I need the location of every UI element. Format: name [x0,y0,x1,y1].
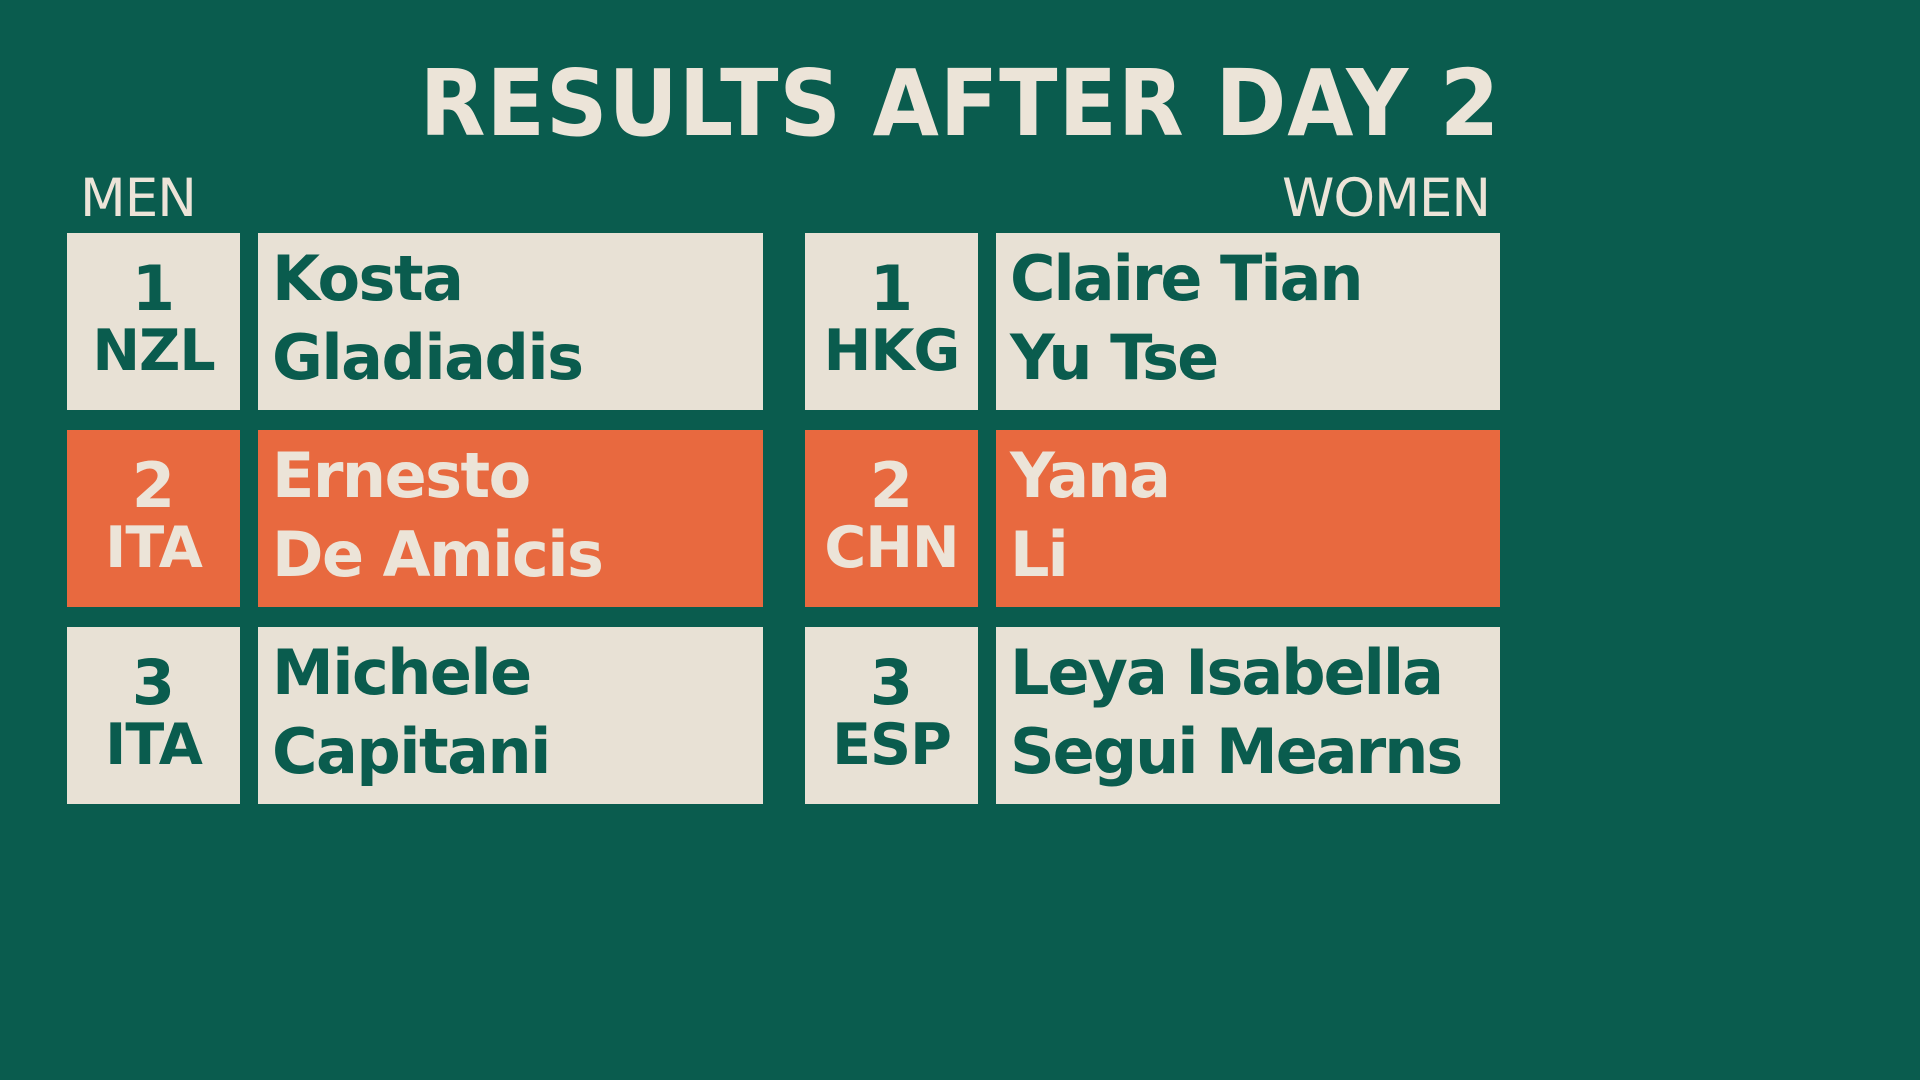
athlete-name-line-2: Yu Tse [1010,319,1500,397]
result-row[interactable]: 1 HKG Claire Tian Yu Tse [805,233,1500,410]
athlete-name-line-2: Li [1010,516,1500,594]
athlete-name-line-1: Leya Isabella [1010,634,1500,712]
athlete-name-line-1: Yana [1010,437,1500,515]
results-column-women: 1 HKG Claire Tian Yu Tse 2 CHN Yana Li 3… [805,233,1500,804]
rank-country-box: 3 ESP [805,627,978,804]
athlete-name-box: Kosta Gladiadis [258,233,763,410]
rank-number: 3 [132,651,175,714]
country-code: CHN [824,519,958,579]
results-graphic: RESULTS AFTER DAY 2 MEN WOMEN 1 NZL Kost… [0,0,1920,1080]
rank-country-box: 3 ITA [67,627,240,804]
rank-country-box: 2 CHN [805,430,978,607]
country-code: HKG [824,322,960,382]
result-row[interactable]: 3 ITA Michele Capitani [67,627,763,804]
athlete-name-line-1: Michele [272,634,763,712]
result-row[interactable]: 2 CHN Yana Li [805,430,1500,607]
athlete-name-box: Yana Li [996,430,1500,607]
country-code: ITA [105,716,202,776]
athlete-name-line-1: Claire Tian [1010,240,1500,318]
country-code: ESP [832,716,951,776]
athlete-name-box: Claire Tian Yu Tse [996,233,1500,410]
athlete-name-box: Michele Capitani [258,627,763,804]
column-heading-men: MEN [80,152,196,228]
athlete-name-box: Leya Isabella Segui Mearns [996,627,1500,804]
page-title: RESULTS AFTER DAY 2 [67,58,1853,150]
results-column-men: 1 NZL Kosta Gladiadis 2 ITA Ernesto De A… [67,233,763,804]
athlete-name-line-2: Capitani [272,713,763,791]
rank-country-box: 1 HKG [805,233,978,410]
rank-number: 1 [132,257,175,320]
result-row[interactable]: 3 ESP Leya Isabella Segui Mearns [805,627,1500,804]
athlete-name-line-2: De Amicis [272,516,763,594]
column-heading-women: WOMEN [1282,152,1490,228]
rank-number: 3 [870,651,913,714]
athlete-name-line-2: Gladiadis [272,319,763,397]
rank-country-box: 2 ITA [67,430,240,607]
athlete-name-box: Ernesto De Amicis [258,430,763,607]
rank-number: 1 [870,257,913,320]
athlete-name-line-2: Segui Mearns [1010,713,1500,791]
result-row[interactable]: 2 ITA Ernesto De Amicis [67,430,763,607]
result-row[interactable]: 1 NZL Kosta Gladiadis [67,233,763,410]
athlete-name-line-1: Kosta [272,240,763,318]
country-code: ITA [105,519,202,579]
country-code: NZL [92,322,214,382]
rank-number: 2 [870,454,913,517]
athlete-name-line-1: Ernesto [272,437,763,515]
rank-number: 2 [132,454,175,517]
rank-country-box: 1 NZL [67,233,240,410]
